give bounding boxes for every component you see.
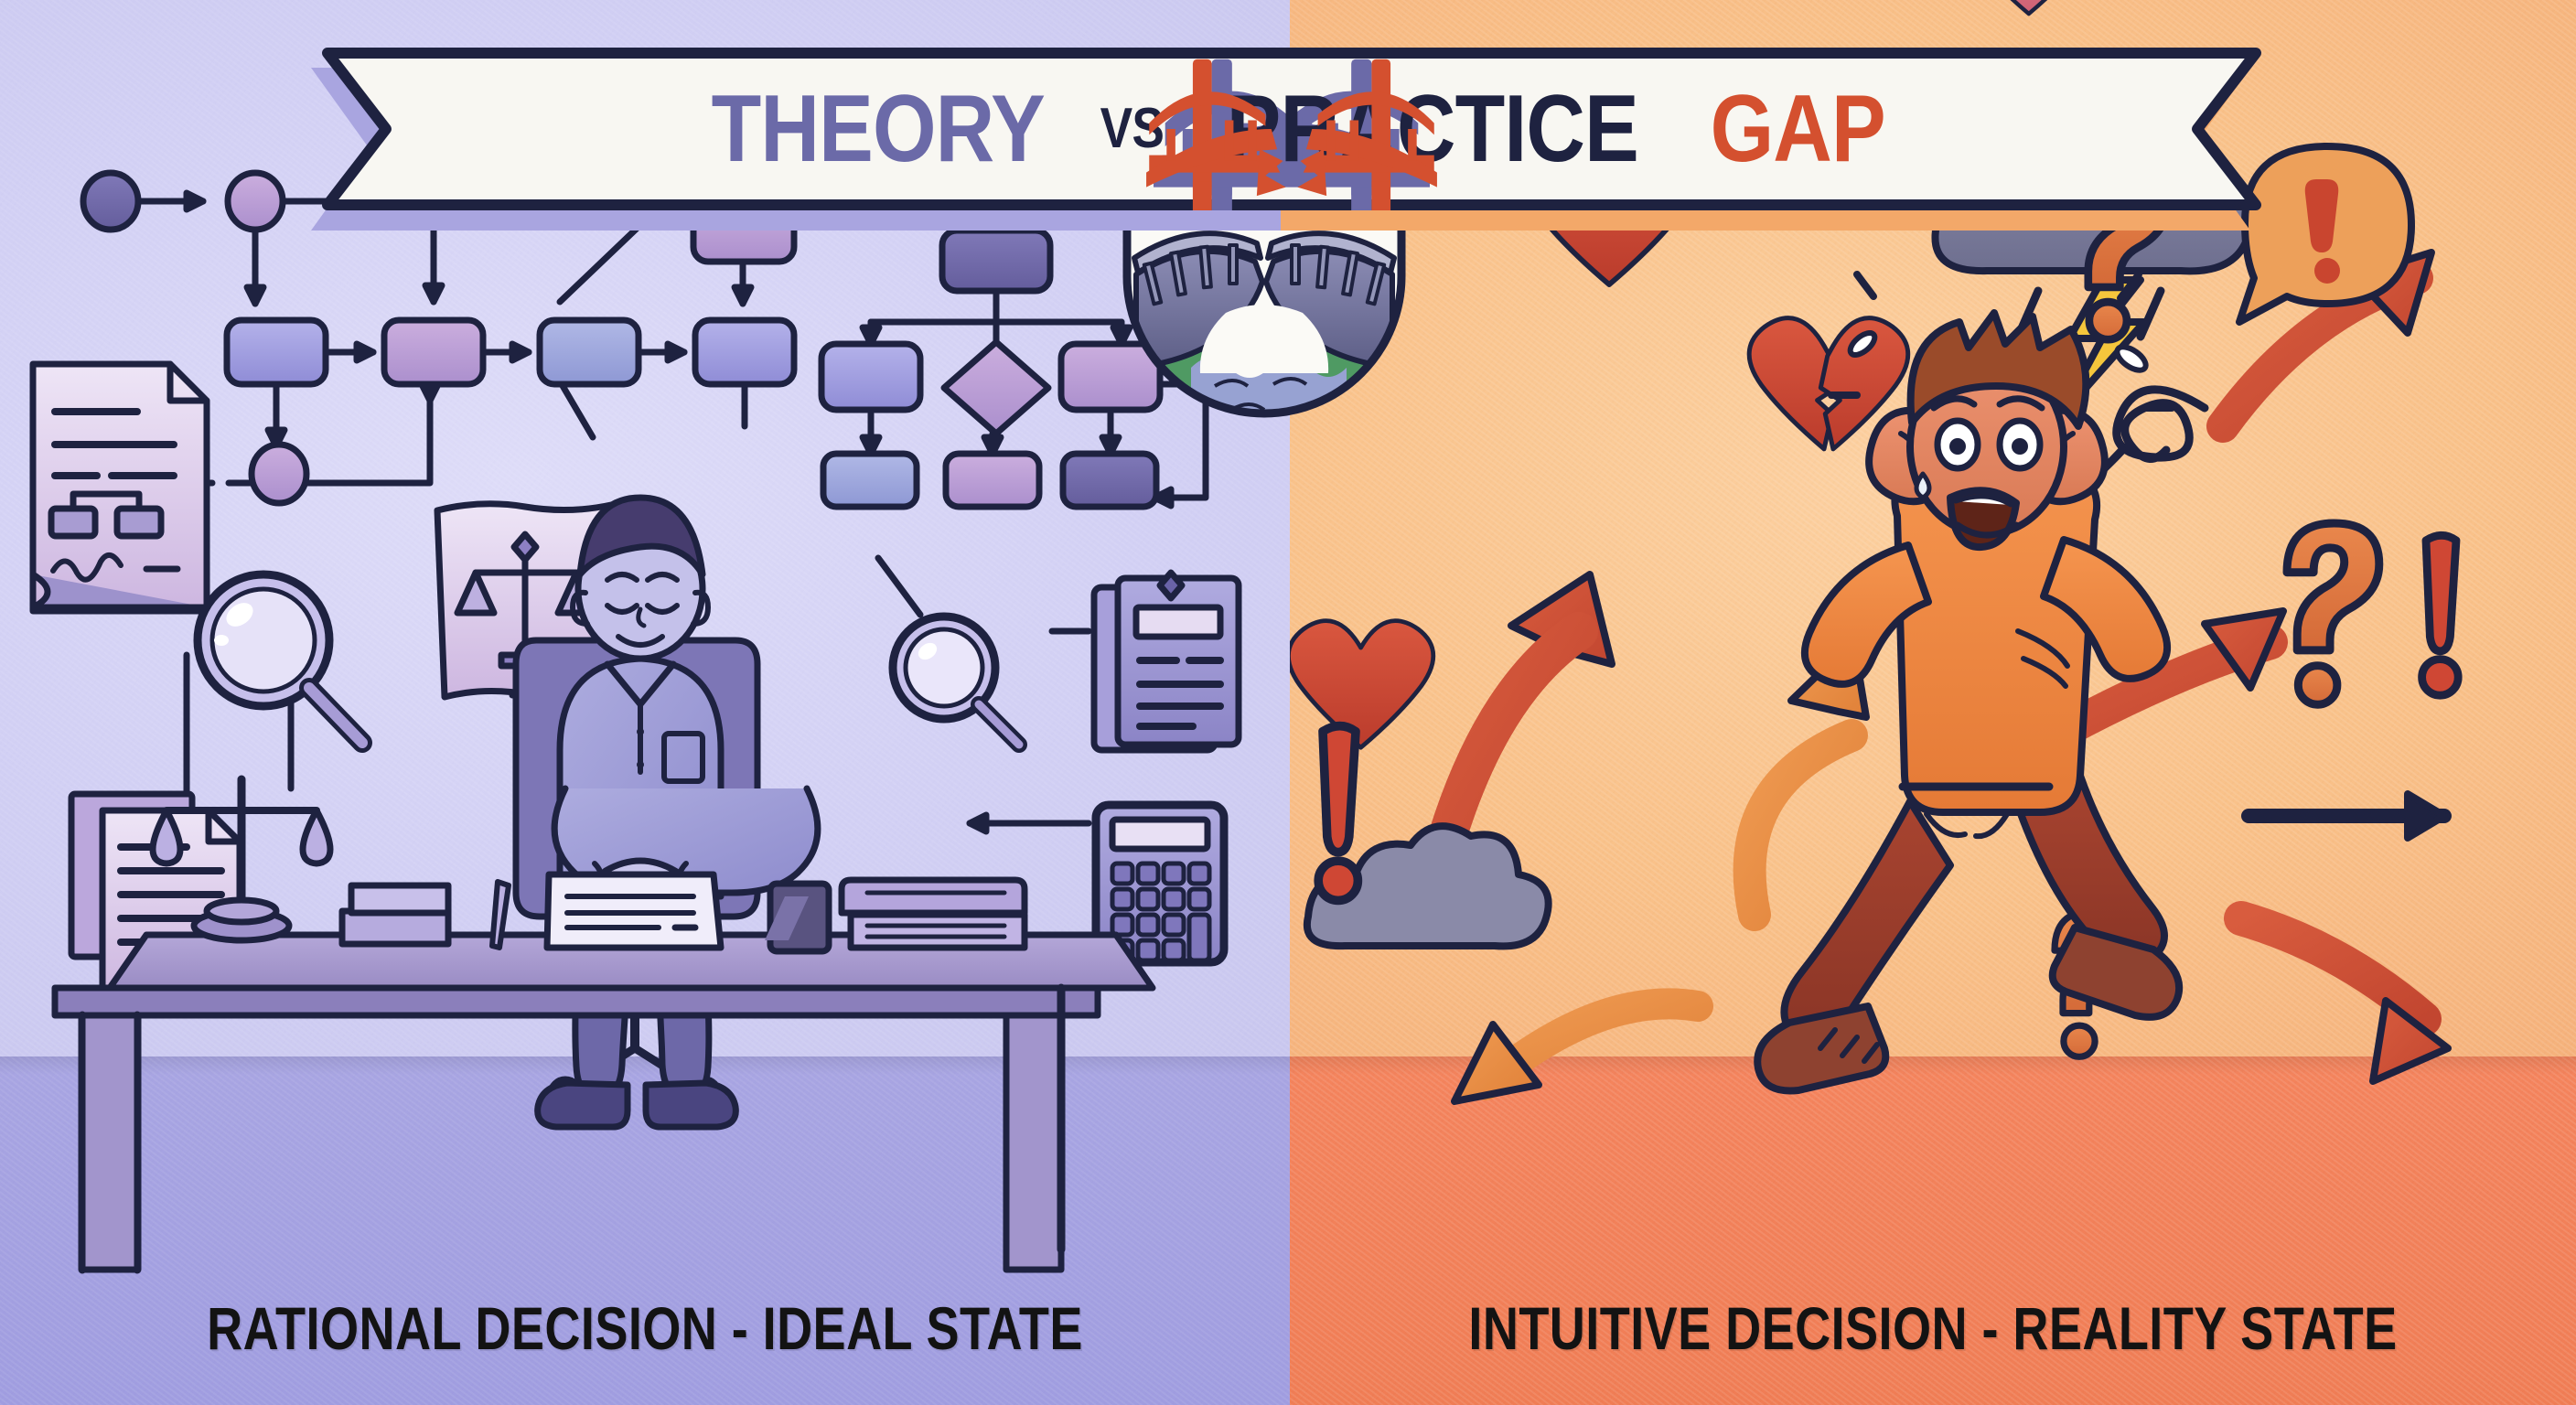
right-panel-caption: INTUITIVE DECISION - REALITY STATE	[1406, 1293, 2461, 1363]
left-floor-edge-shadow	[0, 1056, 1290, 1075]
banner-title-row: THEORY VS PRACTICE GAP	[322, 48, 2261, 210]
broken-bridge-icon	[322, 48, 2261, 210]
right-floor-edge-shadow	[1290, 1056, 2576, 1075]
infographic-canvas: RATIONAL DECISION - IDEAL STATE	[0, 0, 2576, 1405]
title-banner: THEORY VS PRACTICE GAP	[322, 48, 2261, 210]
left-panel-caption: RATIONAL DECISION - IDEAL STATE	[116, 1293, 1174, 1363]
